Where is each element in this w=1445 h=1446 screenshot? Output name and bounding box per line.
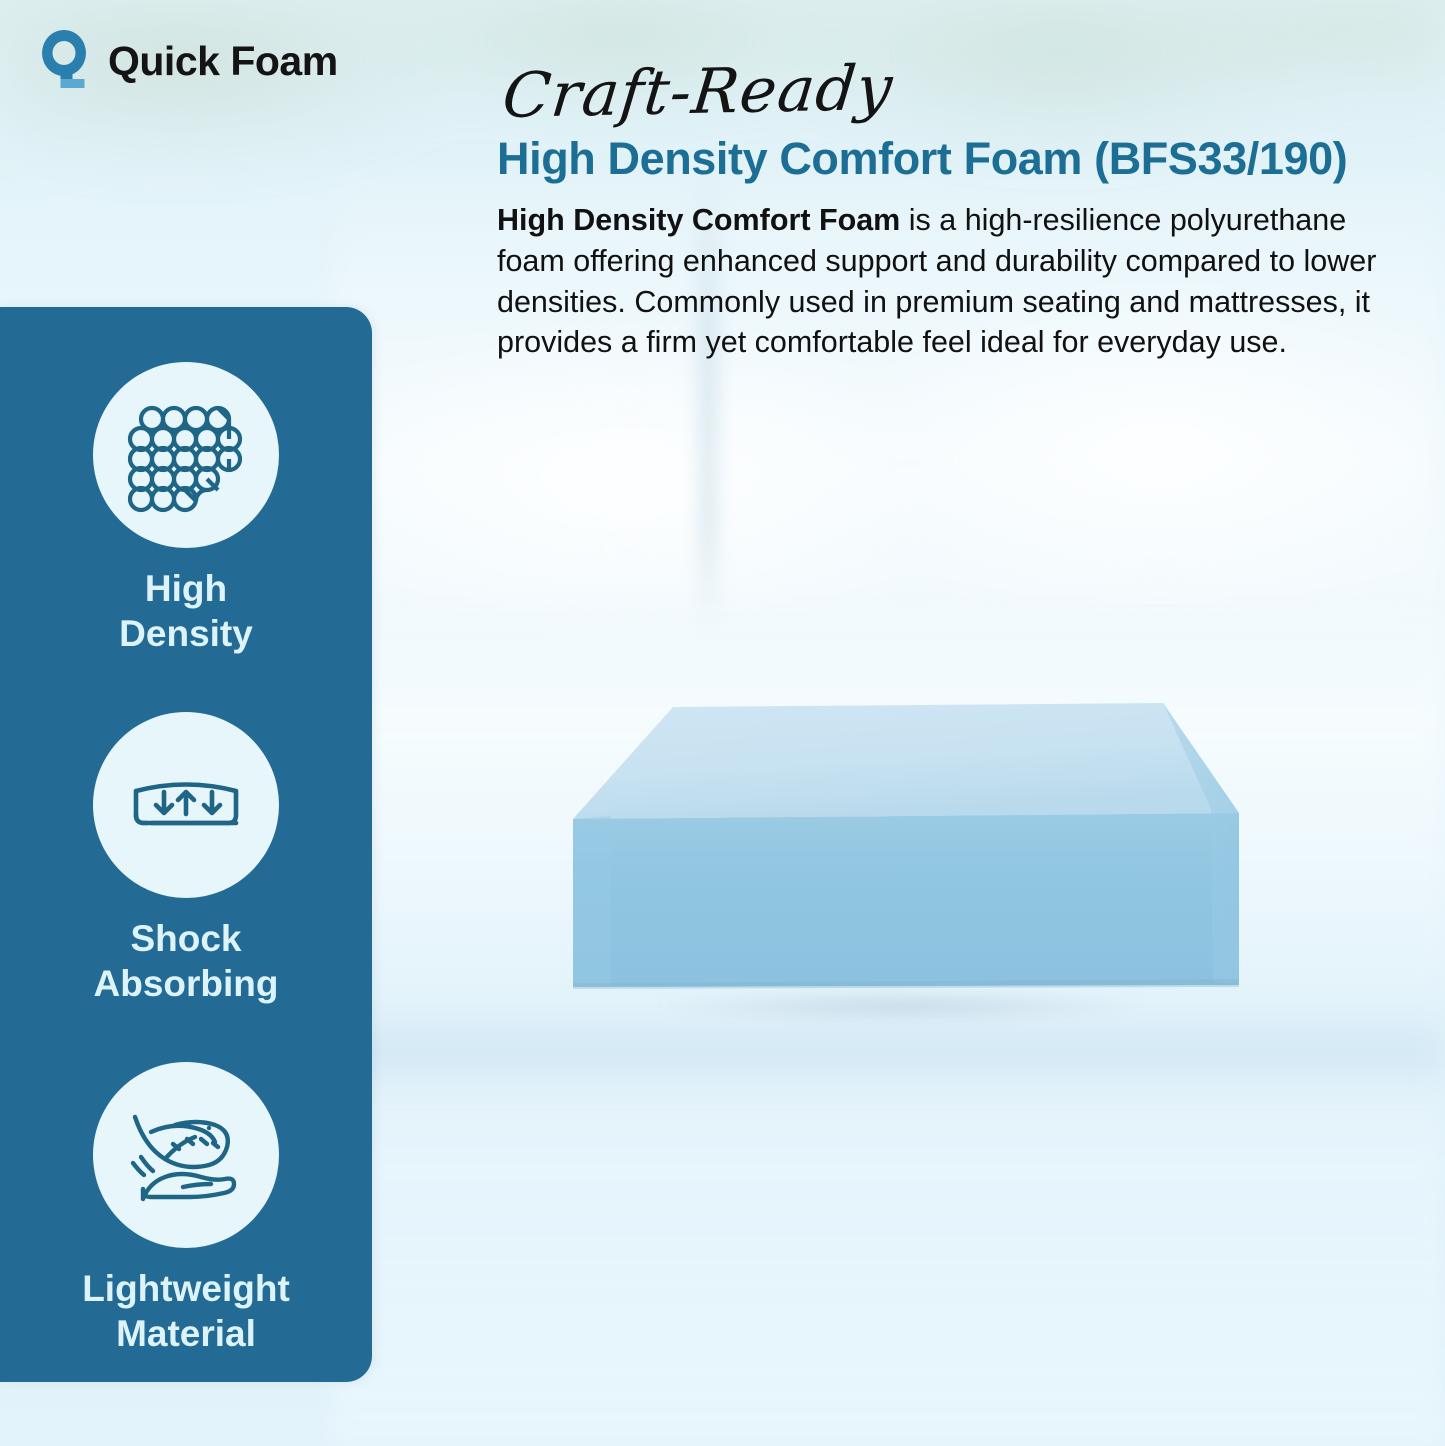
feature-label-line2: Density: [0, 611, 372, 656]
cushion-compression-arrows-icon: [122, 762, 250, 848]
high-density-foam-block: [551, 685, 1241, 1030]
feature-sidebar: High Density S: [0, 307, 372, 1382]
hand-holding-foam-icon: [121, 1099, 251, 1211]
feature-label: Lightweight Material: [0, 1266, 372, 1356]
feature-label-line2: Material: [0, 1311, 372, 1356]
background-surface-edge: [330, 1020, 1445, 1090]
product-title: High Density Comfort Foam (BFS33/190): [497, 134, 1407, 184]
product-infographic-poster: Quick Foam Craft-Ready High Density Comf…: [0, 0, 1445, 1446]
feature-badge: [93, 712, 279, 898]
feature-badge: [93, 362, 279, 548]
brand-logo: Quick Foam: [34, 28, 338, 94]
feature-label-line1: Shock: [0, 916, 372, 961]
feature-label: High Density: [0, 566, 372, 656]
brand-wordmark: Quick Foam: [108, 41, 338, 82]
feature-label: Shock Absorbing: [0, 916, 372, 1006]
header-block: Craft-Ready High Density Comfort Foam (B…: [497, 63, 1407, 363]
feature-item-high-density: High Density: [0, 362, 372, 656]
feature-item-lightweight-material: Lightweight Material: [0, 1062, 372, 1356]
feature-badge: [93, 1062, 279, 1248]
description-lead: High Density Comfort Foam: [497, 203, 900, 237]
feature-label-line1: High: [0, 566, 372, 611]
feature-item-shock-absorbing: Shock Absorbing: [0, 712, 372, 1006]
feature-label-line1: Lightweight: [0, 1266, 372, 1311]
quick-foam-q-mark-icon: [34, 28, 96, 94]
foam-cell-grid-icon: [122, 395, 250, 515]
product-description: High Density Comfort Foam is a high-resi…: [497, 200, 1402, 362]
script-tagline: Craft-Ready: [500, 44, 1413, 128]
feature-label-line2: Absorbing: [0, 961, 372, 1006]
